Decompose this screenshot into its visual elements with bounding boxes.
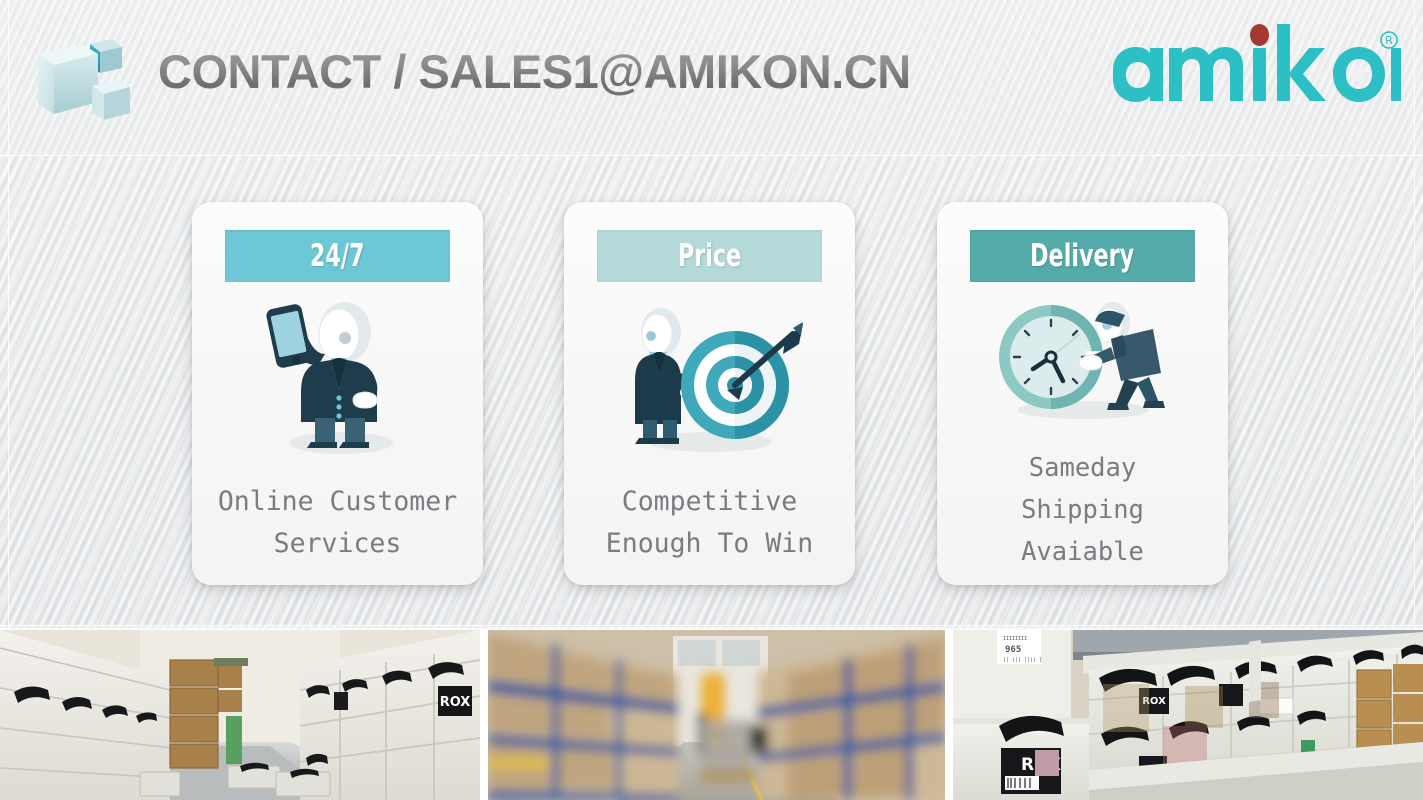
card-badge-24-7: 24/7 bbox=[225, 230, 450, 282]
feature-card-24-7[interactable]: 24/7 bbox=[192, 202, 483, 585]
svg-text:R: R bbox=[1385, 34, 1393, 47]
photo-strip: ROX bbox=[0, 630, 1423, 800]
card-caption: Competitive Enough To Win bbox=[572, 481, 847, 565]
slide-root: CONTACT / SALES1@AMIKON.CN bbox=[0, 0, 1423, 800]
list-item bbox=[488, 630, 945, 800]
feature-card-price[interactable]: Price bbox=[564, 202, 855, 585]
feature-card-delivery[interactable]: Delivery bbox=[937, 202, 1228, 585]
content-divider bbox=[0, 625, 1423, 626]
amikon-brand-logo: R bbox=[1101, 18, 1401, 118]
person-pushing-clock-illustration bbox=[937, 294, 1228, 424]
list-item: ROX bbox=[0, 630, 480, 800]
card-caption: Sameday Shipping Avaiable bbox=[945, 447, 1220, 573]
header-bar: CONTACT / SALES1@AMIKON.CN bbox=[0, 0, 1423, 150]
svg-text:|| ||| |||| |: || ||| |||| | bbox=[1003, 657, 1042, 663]
card-caption: Online Customer Services bbox=[200, 481, 475, 565]
list-item: IIIIIIII 965 || ||| |||| | ROX bbox=[953, 630, 1423, 800]
svg-text:IIIIIIII: IIIIIIII bbox=[1003, 636, 1027, 642]
header-divider bbox=[0, 155, 1423, 156]
svg-text:965: 965 bbox=[1005, 645, 1021, 655]
person-with-phone-illustration bbox=[192, 300, 483, 460]
card-badge-delivery: Delivery bbox=[970, 230, 1195, 282]
card-badge-label: 24/7 bbox=[310, 238, 365, 274]
cube-logo-icon bbox=[30, 28, 142, 128]
svg-text:ROX: ROX bbox=[440, 695, 471, 710]
card-badge-label: Price bbox=[678, 238, 741, 274]
card-badge-price: Price bbox=[597, 230, 822, 282]
person-with-target-illustration bbox=[564, 300, 855, 460]
card-badge-label: Delivery bbox=[1030, 238, 1134, 274]
page-title: CONTACT / SALES1@AMIKON.CN bbox=[158, 44, 911, 99]
